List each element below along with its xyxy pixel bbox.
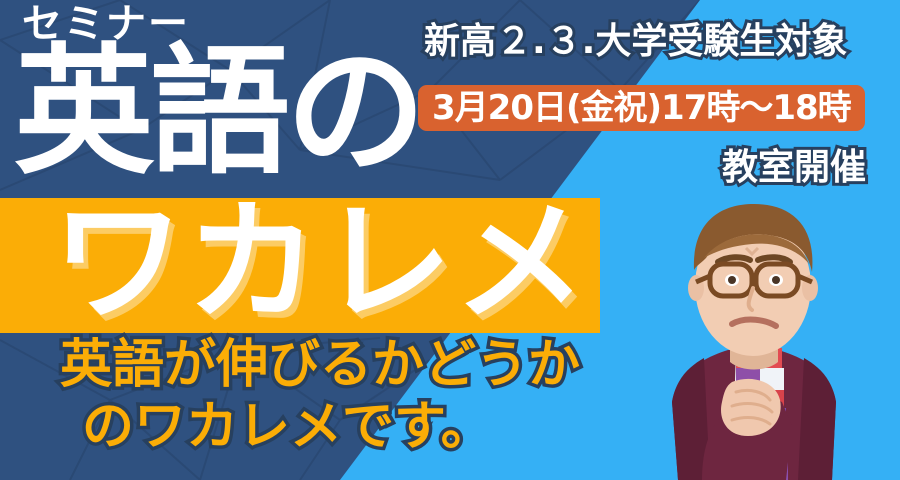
presenter-photo: [606, 196, 900, 480]
date-time-badge: 3月20日(金祝)17時〜18時: [418, 85, 865, 131]
venue-label: 教室開催: [722, 148, 866, 188]
target-audience-label: 新高２.３.大学受験生対象: [424, 22, 847, 62]
fist: [721, 379, 781, 436]
seminar-banner: セミナー 英語の ワカレメ 英語が伸びるかどうか のワカレメです。 新高２.３.…: [0, 0, 900, 480]
tagline: 英語が伸びるかどうか のワカレメです。: [60, 334, 580, 458]
date-time-label: 3月20日(金祝)17時〜18時: [432, 91, 851, 125]
tagline-line-1: 英語が伸びるかどうか: [60, 335, 580, 395]
headline-highlight: ワカレメ: [52, 188, 588, 338]
tagline-line-2: のワカレメです。: [82, 396, 580, 458]
page-title: 英語の: [14, 38, 422, 188]
